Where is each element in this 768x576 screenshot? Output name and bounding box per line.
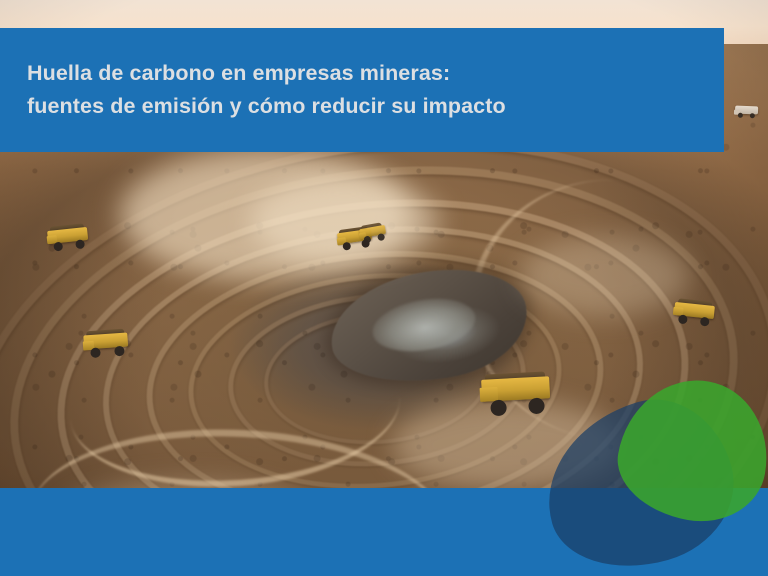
title-banner: Huella de carbono en empresas mineras: f…: [0, 28, 724, 152]
page-root: Huella de carbono en empresas mineras: f…: [0, 0, 768, 576]
vehicle-wheel: [738, 113, 743, 118]
truck-wheel: [363, 236, 371, 244]
truck-wheel: [678, 314, 688, 324]
truck-wheel: [377, 233, 385, 241]
truck-wheel: [114, 346, 125, 357]
haul-truck-icon: [671, 298, 718, 330]
truck-wheel: [700, 317, 710, 327]
service-vehicle-icon: [734, 104, 761, 121]
haul-truck-icon: [45, 223, 92, 255]
truck-wheel: [90, 347, 101, 358]
truck-wheel: [53, 242, 63, 252]
page-title: Huella de carbono en empresas mineras: f…: [0, 57, 506, 122]
truck-wheel: [342, 242, 351, 251]
brand-logo[interactable]: [500, 380, 768, 576]
haul-truck-icon: [81, 328, 131, 361]
truck-wheel: [75, 239, 85, 249]
vehicle-wheel: [750, 113, 755, 118]
